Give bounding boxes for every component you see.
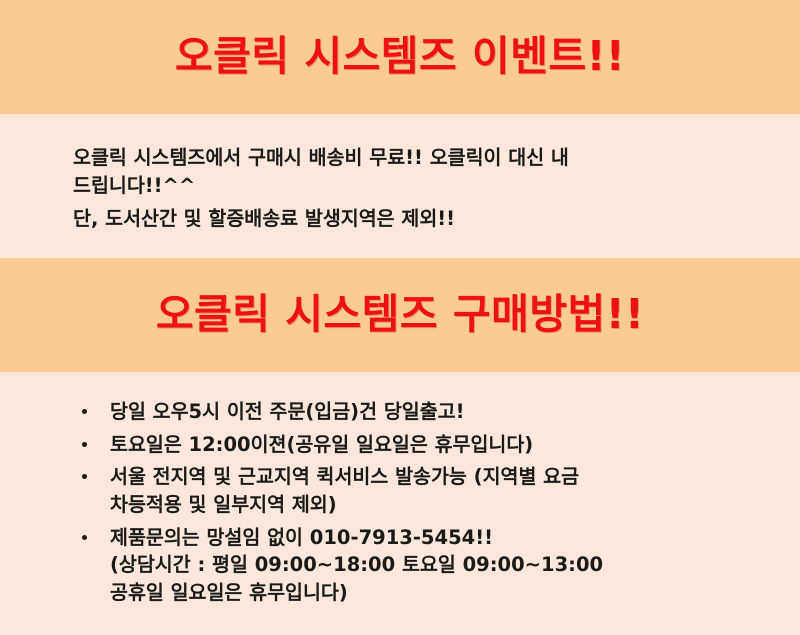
- list-item: 제품문의는 망설임 없이 010-7913-5454!! (상담시간 : 평일 …: [73, 524, 770, 607]
- shipping-paragraph-exclusions-line-1: 단, 도서산간 및 할증배송료 발생지역은 제외!!: [73, 205, 760, 233]
- bullet-3-line-2: 차등적용 및 일부지역 제외): [110, 491, 770, 519]
- list-item: 서울 전지역 및 근교지역 퀵서비스 발송가능 (지역별 요금 차등적용 및 일…: [73, 463, 770, 518]
- bullet-4-line-1-contact-phone: 제품문의는 망설임 없이 010-7913-5454!!: [110, 524, 770, 552]
- list-item: 토요일은 12:00이젼(공유일 일요일은 휴무입니다): [73, 431, 770, 459]
- event-headline-text: 오클릭 시스템즈 이벤트!!: [175, 34, 625, 79]
- bullet-2-line-1: 토요일은 12:00이젼(공유일 일요일은 휴무입니다): [110, 431, 770, 459]
- event-headline-banner: 오클릭 시스템즈 이벤트!!: [0, 0, 800, 114]
- shipping-paragraph-free-delivery-line-2: 드립니다!!^^: [73, 172, 760, 200]
- purchase-method-headline-banner: 오클릭 시스템즈 구매방법!!: [0, 258, 800, 372]
- bullet-dot-icon: [82, 409, 87, 414]
- shipping-info-section: 오클릭 시스템즈에서 구매시 배송비 무료!! 오클릭이 대신 내 드립니다!!…: [0, 114, 800, 258]
- shipping-paragraph-exclusions: 단, 도서산간 및 할증배송료 발생지역은 제외!!: [73, 205, 760, 233]
- bullet-dot-icon: [82, 474, 87, 479]
- bullet-dot-icon: [82, 535, 87, 540]
- bullet-4-line-2-consultation-hours: (상담시간 : 평일 09:00~18:00 토요일 09:00~13:00: [110, 551, 770, 579]
- bullet-4-line-3-holiday-notice: 공휴일 일요일은 휴무입니다): [110, 579, 770, 607]
- shipping-paragraph-free-delivery-line-1: 오클릭 시스템즈에서 구매시 배송비 무료!! 오클릭이 대신 내: [73, 144, 760, 172]
- bullet-1-line-1: 당일 오우5시 이전 주문(입금)건 당일출고!: [110, 398, 770, 426]
- purchase-method-headline-text: 오클릭 시스템즈 구매방법!!: [156, 292, 644, 337]
- list-item: 당일 오우5시 이전 주문(입금)건 당일출고!: [73, 398, 770, 426]
- bullet-dot-icon: [82, 442, 87, 447]
- shipping-paragraph-free-delivery: 오클릭 시스템즈에서 구매시 배송비 무료!! 오클릭이 대신 내 드립니다!!…: [73, 144, 760, 199]
- bullet-3-line-1: 서울 전지역 및 근교지역 퀵서비스 발송가능 (지역별 요금: [110, 463, 770, 491]
- purchase-method-bullet-list: 당일 오우5시 이전 주문(입금)건 당일출고! 토요일은 12:00이젼(공유…: [73, 398, 770, 607]
- purchase-method-section: 당일 오우5시 이전 주문(입금)건 당일출고! 토요일은 12:00이젼(공유…: [0, 372, 800, 635]
